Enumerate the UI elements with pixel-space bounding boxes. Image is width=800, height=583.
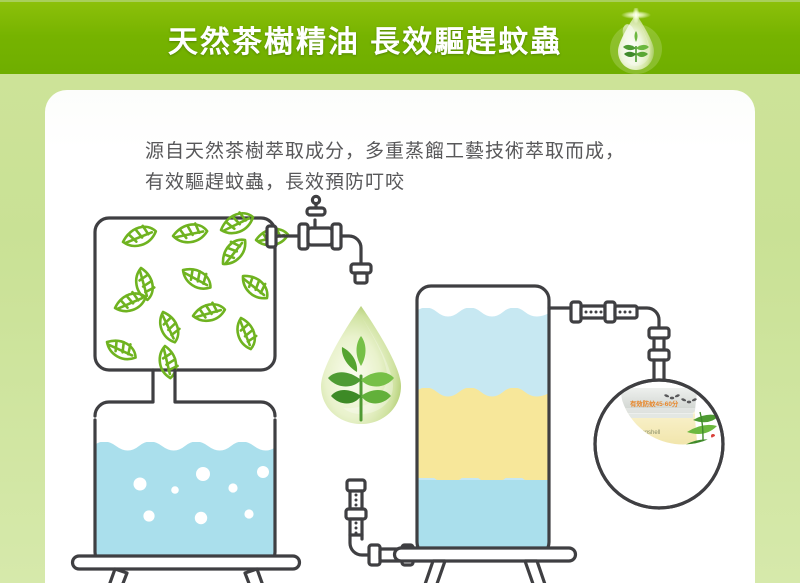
banner-title-row: 天然茶樹精油 長效驅趕蚊蟲	[0, 2, 800, 76]
header-banner: 天然茶樹精油 長效驅趕蚊蟲	[0, 0, 800, 74]
chamber-connector-pipe	[95, 370, 275, 416]
promo-page: 天然茶樹精油 長效驅趕蚊蟲	[0, 0, 800, 583]
distillation-tank	[415, 286, 551, 566]
content-card: 源自天然茶樹萃取成分，多重蒸餾工藝技術萃取而成， 有效驅趕蚊蟲，長效預防叮咬	[45, 90, 755, 583]
water-tank	[93, 420, 277, 568]
tea-tree-oil-distillation-diagram: 有效防蚊45-60分 eggshell Shell	[45, 90, 755, 583]
page-title: 天然茶樹精油 長效驅趕蚊蟲	[168, 17, 562, 61]
tea-essence-droplet	[321, 306, 401, 424]
jar-claim-text: 有效防蚊45-60分	[630, 399, 679, 408]
tea-oil-droplet-icon	[605, 8, 667, 74]
right-outlet-pipe	[549, 302, 669, 380]
distillation-tank-stand	[395, 548, 576, 583]
water-tank-stand	[73, 556, 300, 583]
